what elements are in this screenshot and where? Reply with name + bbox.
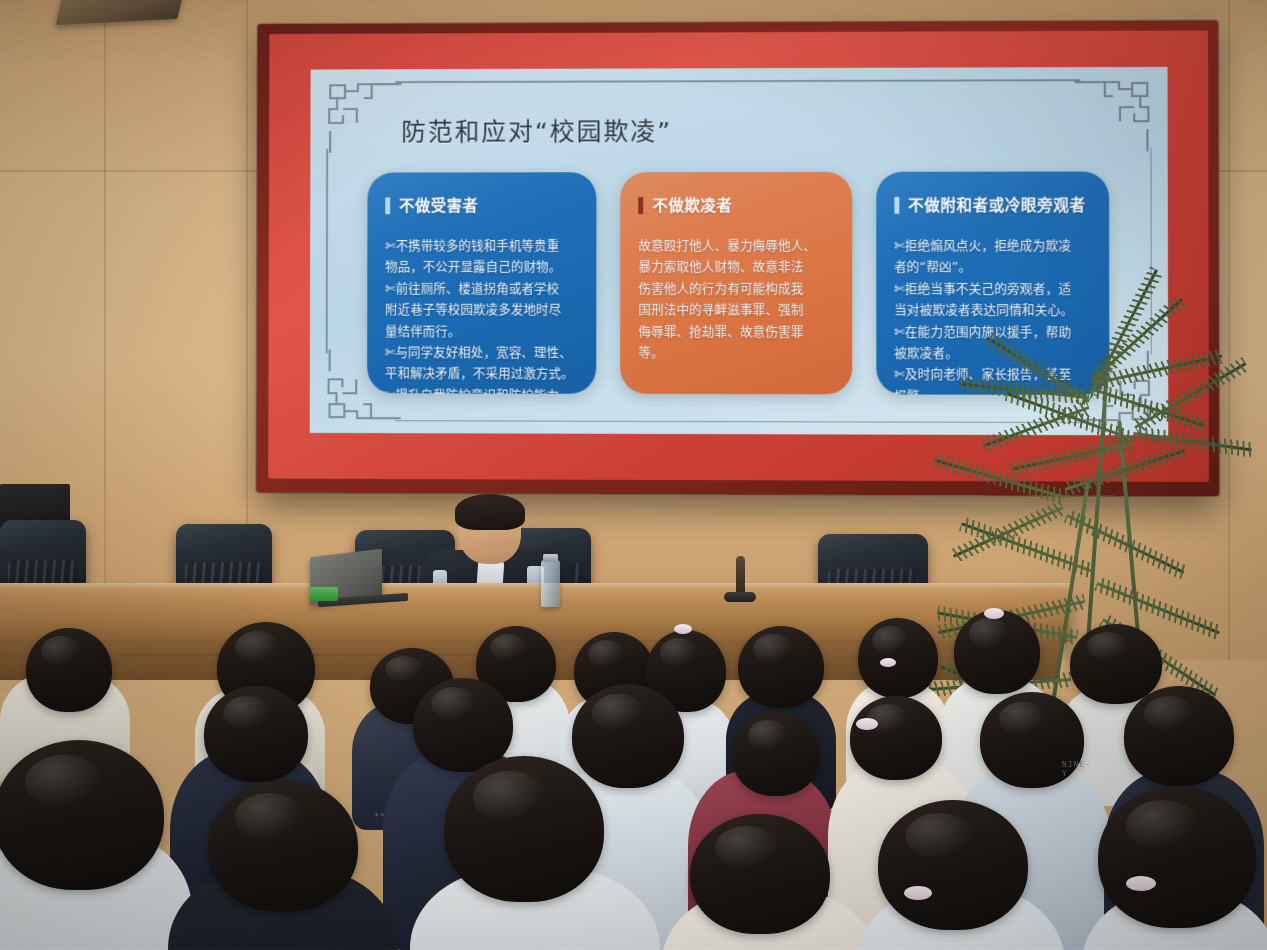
student-head	[1070, 624, 1162, 704]
card-line: ✄拒绝当事不关己的旁观者，适	[894, 279, 1091, 300]
audience-students: ✶✶	[0, 600, 1267, 950]
card-line: ✄不携带较多的钱和手机等贵重	[385, 236, 579, 256]
meander-corner-icon	[324, 79, 401, 153]
green-desk-item	[310, 587, 338, 601]
card-line: 附近巷子等校园欺凌多发地时尽	[385, 300, 579, 320]
student-head	[878, 800, 1028, 930]
hair-tie	[1126, 876, 1156, 891]
card-line: ✄及时向老师、家长报告，甚至	[894, 365, 1091, 386]
card-body: ✄不携带较多的钱和手机等贵重 物品，不公开显露自己的财物。 ✄前往厕所、楼道拐角…	[385, 236, 579, 394]
wall-seam	[1228, 0, 1230, 660]
student-head	[444, 756, 604, 902]
student-head	[413, 678, 513, 772]
student-head	[850, 696, 942, 780]
hair-tie	[674, 624, 692, 634]
accent-bar-icon	[894, 196, 899, 213]
accent-bar-icon	[639, 197, 644, 214]
card-no-bystander: 不做附和者或冷眼旁观者 ✄拒绝煽风点火，拒绝成为欺凌 者的“帮凶”。 ✄拒绝当事…	[876, 172, 1109, 395]
meander-corner-icon	[1074, 77, 1153, 152]
student-head	[0, 740, 164, 890]
slide-frame-rule	[1150, 147, 1152, 354]
card-line: ✄提升自我防护意识和防护能力，	[385, 385, 579, 394]
card-line: 物品，不公开显露自己的财物。	[385, 257, 579, 277]
card-title: 不做附和者或冷眼旁观者	[908, 194, 1085, 216]
student-head	[572, 684, 684, 788]
slide-frame-rule	[395, 79, 1080, 82]
card-line: 侮辱罪、抢劫罪、故意伤害罪	[638, 321, 833, 342]
hair-tie	[880, 658, 896, 667]
card-no-bully: 不做欺凌者 故意殴打他人、暴力侮辱他人、 暴力索取他人财物、故意非法 伤害他人的…	[620, 172, 851, 394]
bottle-cap	[543, 554, 558, 562]
card-line: 等。	[638, 343, 833, 364]
card-line: 报警。	[894, 386, 1091, 395]
card-title: 不做受害者	[399, 194, 478, 216]
card-line: 伤害他人的行为有可能构成我	[638, 279, 833, 299]
hair-tie	[856, 718, 878, 730]
card-heading: 不做受害者	[385, 194, 579, 216]
card-line: 者的“帮凶”。	[894, 257, 1091, 278]
slide-canvas: 防范和应对“校园欺凌” 不做受害者 ✄不携带较多的钱和手机等贵重 物品，不公开显…	[310, 67, 1169, 436]
slide-frame-rule	[395, 420, 1081, 423]
student-head	[204, 686, 308, 782]
student-head	[208, 780, 358, 912]
card-title: 不做欺凌者	[652, 194, 732, 216]
student-head	[858, 618, 938, 698]
accent-bar-icon	[385, 197, 390, 214]
desk-microphone[interactable]	[736, 556, 745, 596]
card-body: ✄拒绝煽风点火，拒绝成为欺凌 者的“帮凶”。 ✄拒绝当事不关己的旁观者，适 当对…	[894, 236, 1091, 395]
student-head	[1098, 786, 1256, 928]
student-head	[738, 626, 824, 708]
student-head	[954, 610, 1040, 694]
hair-tie	[984, 608, 1004, 619]
card-heading: 不做附和者或冷眼旁观者	[894, 194, 1091, 216]
card-body: 故意殴打他人、暴力侮辱他人、 暴力索取他人财物、故意非法 伤害他人的行为有可能构…	[638, 236, 833, 364]
card-no-victim: 不做受害者 ✄不携带较多的钱和手机等贵重 物品，不公开显露自己的财物。 ✄前往厕…	[367, 172, 597, 394]
card-line: 当对被欺凌者表达同情和关心。	[894, 300, 1091, 321]
card-heading: 不做欺凌者	[639, 194, 834, 216]
card-line: 故意殴打他人、暴力侮辱他人、	[639, 236, 834, 256]
presentation-screen: 防范和应对“校园欺凌” 不做受害者 ✄不携带较多的钱和手机等贵重 物品，不公开显…	[256, 20, 1219, 496]
card-line: 被欺凌者。	[894, 343, 1091, 364]
card-line: ✄在能力范围内施以援手，帮助	[894, 322, 1091, 343]
slide-frame-rule	[326, 149, 328, 354]
card-line: 量结伴而行。	[385, 321, 579, 342]
hair-tie	[904, 886, 932, 900]
screen-red-border: 防范和应对“校园欺凌” 不做受害者 ✄不携带较多的钱和手机等贵重 物品，不公开显…	[268, 31, 1209, 482]
student-head	[26, 628, 112, 712]
card-line: 平和解决矛盾，不采用过激方式。	[385, 364, 579, 385]
student-head	[732, 712, 820, 796]
card-line: ✄拒绝煽风点火，拒绝成为欺凌	[894, 236, 1091, 257]
jacket-print-text: NINE-Y	[1062, 760, 1091, 778]
slide-card-row: 不做受害者 ✄不携带较多的钱和手机等贵重 物品，不公开显露自己的财物。 ✄前往厕…	[367, 172, 1109, 395]
wall-seam	[104, 0, 106, 660]
card-line: ✄前往厕所、楼道拐角或者学校	[385, 279, 579, 299]
student-head	[690, 814, 830, 934]
officer-hair	[455, 494, 525, 530]
photo-scene: 防范和应对“校园欺凌” 不做受害者 ✄不携带较多的钱和手机等贵重 物品，不公开显…	[0, 0, 1267, 950]
slide-title: 防范和应对“校园欺凌”	[401, 112, 672, 148]
card-line: 暴力索取他人财物、故意非法	[639, 257, 834, 277]
student-head	[1124, 686, 1234, 786]
card-line: 国刑法中的寻衅滋事罪、强制	[638, 300, 833, 321]
card-line: ✄与同学友好相处，宽容、理性、	[385, 342, 579, 363]
